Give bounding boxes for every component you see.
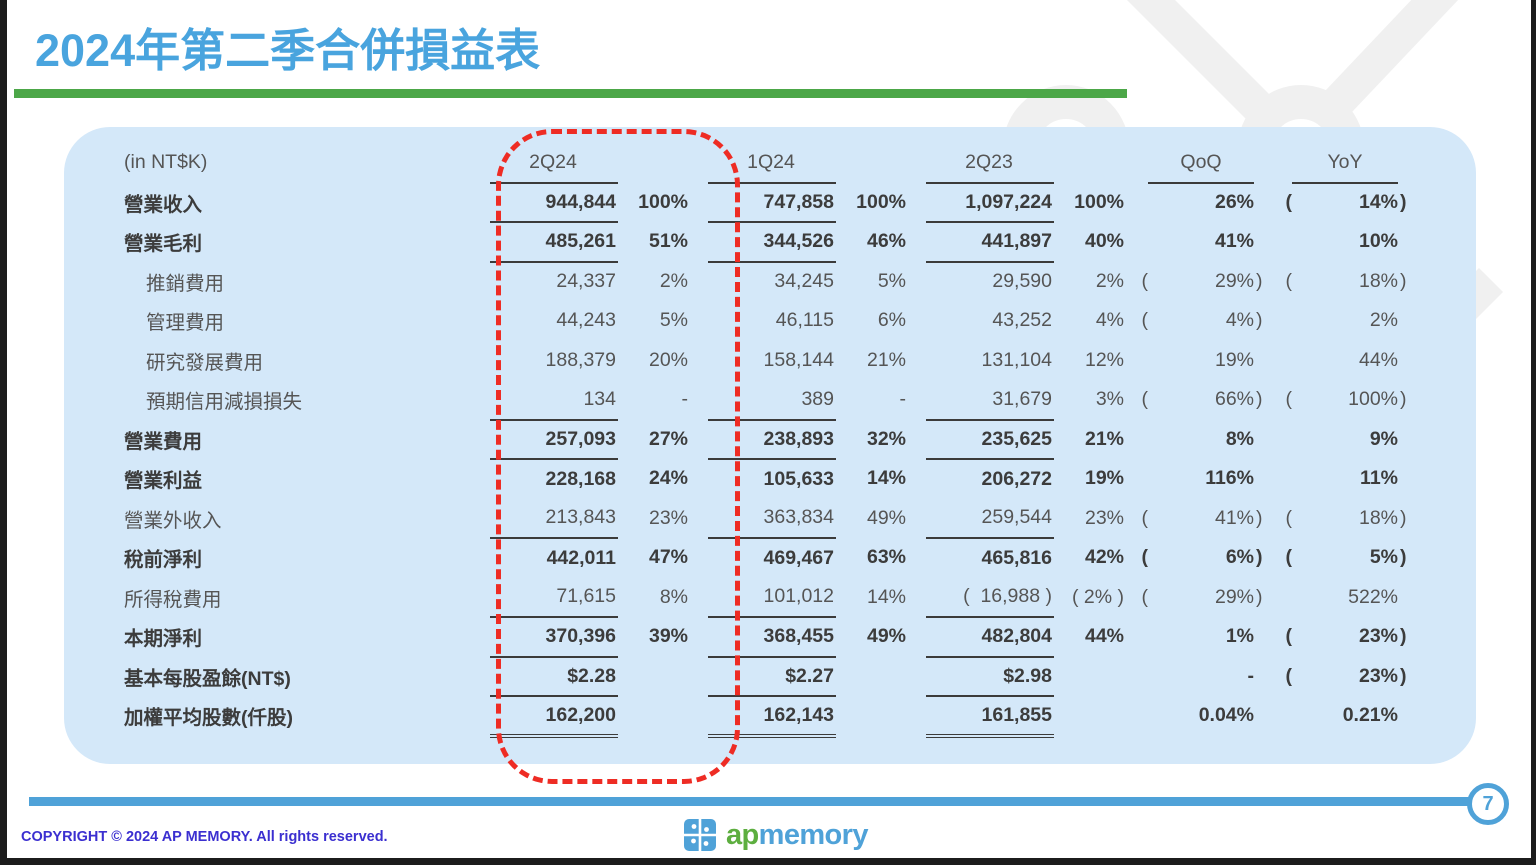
page-number-badge: 7 [1467,783,1509,825]
cell-1q24-value: 389 [708,380,836,420]
cell-2q23-value: 29,590 [926,262,1054,302]
cell-1q24-value: 158,144 [708,341,836,381]
row-label: 營業外收入 [120,499,490,539]
cell-1q24-percent: 5% [836,262,910,302]
cell-yoy-value: 100% [1292,380,1398,420]
cell-yoy-paren-open: ( [1272,262,1292,302]
cell-2q24-value: 24,337 [490,262,618,302]
cell-yoy-paren-close: ) [1398,380,1416,420]
cell-1q24-value: $2.27 [708,657,836,697]
cell-2q24-value: 944,844 [490,183,618,223]
cell-qoq-paren-close [1254,459,1272,499]
cell-yoy-value: 23% [1292,657,1398,697]
table-row: 營業利益228,16824%105,63314%206,27219%116%11… [120,459,1416,499]
row-label: 基本每股盈餘(NT$) [120,657,490,697]
column-header-2q23: 2Q23 [926,143,1054,183]
cell-1q24-percent: 14% [836,459,910,499]
column-header-1q24: 1Q24 [708,143,836,183]
title-underline-bar [14,89,1127,98]
row-label: 稅前淨利 [120,538,490,578]
cell-qoq-value: 8% [1148,420,1254,460]
cell-qoq-paren-close: ) [1254,380,1272,420]
cell-yoy-paren-open: ( [1272,538,1292,578]
cell-2q23-percent: 4% [1054,301,1128,341]
cell-2q24-percent: 20% [618,341,692,381]
cell-2q24-percent: 27% [618,420,692,460]
cell-1q24-percent: 63% [836,538,910,578]
unit-label: (in NT$K) [120,143,490,183]
cell-2q24-value: 188,379 [490,341,618,381]
cell-qoq-paren-open: ( [1128,538,1148,578]
cell-qoq-value: 41% [1148,499,1254,539]
table-header-row: (in NT$K) 2Q24 1Q24 2Q23 QoQ YoY [120,143,1416,183]
cell-2q23-value: 206,272 [926,459,1054,499]
cell-qoq-paren-close [1254,657,1272,697]
cell-1q24-value: 368,455 [708,617,836,657]
cell-yoy-value: 11% [1292,459,1398,499]
cell-yoy-value: 5% [1292,538,1398,578]
cell-1q24-value: 344,526 [708,222,836,262]
table-row: 營業收入944,844100%747,858100%1,097,224100%2… [120,183,1416,223]
cell-1q24-value: 162,143 [708,696,836,736]
cell-yoy-paren-close [1398,696,1416,736]
cell-yoy-paren-close [1398,420,1416,460]
cell-1q24-percent: 6% [836,301,910,341]
cell-2q23-percent: ( 2% ) [1054,578,1128,618]
cell-yoy-value: 23% [1292,617,1398,657]
cell-2q24-value: 162,200 [490,696,618,736]
cell-2q24-value: 44,243 [490,301,618,341]
cell-yoy-paren-open [1272,696,1292,736]
cell-2q24-percent: 2% [618,262,692,302]
cell-2q24-value: 257,093 [490,420,618,460]
cell-2q23-percent: 19% [1054,459,1128,499]
cell-2q24-value: 442,011 [490,538,618,578]
row-label: 預期信用減損損失 [120,380,490,420]
cell-2q24-percent: 24% [618,459,692,499]
cell-qoq-paren-close: ) [1254,499,1272,539]
cell-2q24-percent: - [618,380,692,420]
cell-qoq-paren-close: ) [1254,578,1272,618]
cell-2q24-value: $2.28 [490,657,618,697]
cell-1q24-percent: 14% [836,578,910,618]
row-label: 所得稅費用 [120,578,490,618]
cell-qoq-value: 29% [1148,578,1254,618]
cell-2q23-value: 465,816 [926,538,1054,578]
cell-yoy-value: 14% [1292,183,1398,223]
row-label: 研究發展費用 [120,341,490,381]
cell-yoy-paren-open [1272,578,1292,618]
cell-1q24-percent: 21% [836,341,910,381]
cell-yoy-value: 18% [1292,262,1398,302]
cell-1q24-value: 105,633 [708,459,836,499]
cell-yoy-paren-close [1398,222,1416,262]
table-row: 預期信用減損損失134-389-31,6793%(66%)(100%) [120,380,1416,420]
cell-qoq-paren-close: ) [1254,262,1272,302]
cell-yoy-paren-open: ( [1272,617,1292,657]
cell-qoq-value: 4% [1148,301,1254,341]
cell-yoy-value: 44% [1292,341,1398,381]
table-row: 基本每股盈餘(NT$)$2.28$2.27$2.98-(23%) [120,657,1416,697]
table-body: 營業收入944,844100%747,858100%1,097,224100%2… [120,183,1416,736]
table-row: 稅前淨利442,01147%469,46763%465,81642%(6%)(5… [120,538,1416,578]
cell-yoy-value: 522% [1292,578,1398,618]
cell-2q23-value: 482,804 [926,617,1054,657]
row-label: 營業利益 [120,459,490,499]
cell-qoq-paren-close: ) [1254,538,1272,578]
cell-2q23-value: 235,625 [926,420,1054,460]
cell-1q24-value: 34,245 [708,262,836,302]
cell-qoq-paren-close: ) [1254,301,1272,341]
row-label: 推銷費用 [120,262,490,302]
cell-qoq-value: 29% [1148,262,1254,302]
cell-qoq-paren-open [1128,222,1148,262]
cell-yoy-paren-close: ) [1398,617,1416,657]
cell-1q24-percent [836,696,910,736]
cell-qoq-paren-close [1254,341,1272,381]
cell-1q24-value: 238,893 [708,420,836,460]
table-row: 管理費用44,2435%46,1156%43,2524%(4%)2% [120,301,1416,341]
cell-2q23-value: 161,855 [926,696,1054,736]
cell-2q23-value: ( 16,988 ) [926,578,1054,618]
cell-yoy-value: 0.21% [1292,696,1398,736]
cell-2q24-value: 71,615 [490,578,618,618]
cell-1q24-percent: 49% [836,617,910,657]
cell-2q23-percent: 21% [1054,420,1128,460]
cell-2q23-percent: 3% [1054,380,1128,420]
cell-2q23-value: 1,097,224 [926,183,1054,223]
cell-yoy-paren-close: ) [1398,183,1416,223]
cell-2q24-percent: 47% [618,538,692,578]
cell-qoq-value: 41% [1148,222,1254,262]
column-header-2q24: 2Q24 [490,143,618,183]
cell-yoy-paren-close: ) [1398,538,1416,578]
table-row: 所得稅費用71,6158%101,01214%( 16,988 )( 2% )(… [120,578,1416,618]
cell-2q24-value: 213,843 [490,499,618,539]
cell-1q24-percent: 32% [836,420,910,460]
cell-qoq-paren-open: ( [1128,578,1148,618]
table-row: 加權平均股數(仟股)162,200162,143161,8550.04%0.21… [120,696,1416,736]
cell-1q24-percent: 46% [836,222,910,262]
cell-1q24-value: 363,834 [708,499,836,539]
cell-2q23-value: 43,252 [926,301,1054,341]
cell-yoy-paren-close [1398,459,1416,499]
cell-yoy-value: 10% [1292,222,1398,262]
cell-1q24-percent [836,657,910,697]
table-row: 營業外收入213,84323%363,83449%259,54423%(41%)… [120,499,1416,539]
cell-yoy-paren-open: ( [1272,183,1292,223]
cell-qoq-paren-open [1128,696,1148,736]
cell-qoq-value: 1% [1148,617,1254,657]
cell-qoq-paren-open [1128,420,1148,460]
cell-yoy-paren-open [1272,222,1292,262]
cell-2q24-value: 228,168 [490,459,618,499]
financial-table-container: (in NT$K) 2Q24 1Q24 2Q23 QoQ YoY [64,127,1476,764]
cell-qoq-value: 6% [1148,538,1254,578]
cell-2q24-percent: 51% [618,222,692,262]
row-label: 本期淨利 [120,617,490,657]
cell-2q23-percent: 100% [1054,183,1128,223]
cell-2q24-percent: 5% [618,301,692,341]
table-row: 營業毛利485,26151%344,52646%441,89740%41%10% [120,222,1416,262]
cell-2q23-value: 131,104 [926,341,1054,381]
cell-2q23-percent: 40% [1054,222,1128,262]
cell-2q24-percent: 23% [618,499,692,539]
cell-qoq-value: 26% [1148,183,1254,223]
cell-2q24-value: 134 [490,380,618,420]
column-header-yoy: YoY [1292,143,1398,183]
slide-root: 2024年第二季合併損益表 (in NT$K) 2Q24 1Q24 2Q23 Q… [0,0,1536,865]
cell-qoq-paren-open [1128,657,1148,697]
cell-yoy-paren-close [1398,341,1416,381]
copyright-text: COPYRIGHT © 2024 AP MEMORY. All rights r… [21,829,388,845]
cell-qoq-paren-close [1254,183,1272,223]
cell-qoq-value: 66% [1148,380,1254,420]
cell-yoy-value: 2% [1292,301,1398,341]
cell-1q24-percent: - [836,380,910,420]
row-label: 管理費用 [120,301,490,341]
cell-yoy-paren-open: ( [1272,499,1292,539]
cell-2q23-percent: 12% [1054,341,1128,381]
cell-qoq-paren-open [1128,341,1148,381]
cell-yoy-paren-open [1272,459,1292,499]
cell-2q23-percent: 44% [1054,617,1128,657]
cell-yoy-paren-close: ) [1398,262,1416,302]
cell-1q24-percent: 49% [836,499,910,539]
cell-2q24-value: 485,261 [490,222,618,262]
cell-qoq-paren-close [1254,617,1272,657]
column-header-qoq: QoQ [1148,143,1254,183]
puzzle-logo-icon [683,818,717,852]
cell-qoq-paren-open [1128,459,1148,499]
cell-yoy-paren-close [1398,301,1416,341]
cell-2q23-percent [1054,696,1128,736]
cell-qoq-paren-open: ( [1128,301,1148,341]
cell-yoy-paren-close: ) [1398,499,1416,539]
cell-qoq-value: 0.04% [1148,696,1254,736]
cell-yoy-value: 9% [1292,420,1398,460]
cell-1q24-value: 46,115 [708,301,836,341]
apmemory-logo: apmemory [683,818,868,852]
cell-1q24-value: 747,858 [708,183,836,223]
table-row: 營業費用257,09327%238,89332%235,62521%8%9% [120,420,1416,460]
cell-2q24-percent: 100% [618,183,692,223]
cell-2q23-percent [1054,657,1128,697]
cell-qoq-paren-open [1128,617,1148,657]
cell-1q24-value: 101,012 [708,578,836,618]
cell-qoq-paren-open: ( [1128,499,1148,539]
cell-yoy-paren-close: ) [1398,657,1416,697]
cell-2q23-percent: 23% [1054,499,1128,539]
cell-yoy-paren-open [1272,420,1292,460]
cell-2q24-percent: 8% [618,578,692,618]
cell-2q23-value: 259,544 [926,499,1054,539]
row-label: 營業收入 [120,183,490,223]
cell-2q24-value: 370,396 [490,617,618,657]
table-row: 本期淨利370,39639%368,45549%482,80444%1%(23%… [120,617,1416,657]
cell-2q24-percent: 39% [618,617,692,657]
cell-qoq-paren-close [1254,420,1272,460]
cell-yoy-paren-open: ( [1272,380,1292,420]
table-row: 研究發展費用188,37920%158,14421%131,10412%19%4… [120,341,1416,381]
cell-yoy-paren-open [1272,301,1292,341]
cell-2q23-percent: 2% [1054,262,1128,302]
cell-2q23-percent: 42% [1054,538,1128,578]
cell-qoq-value: 19% [1148,341,1254,381]
logo-text-ap: ap [726,819,759,851]
cell-qoq-paren-open: ( [1128,262,1148,302]
cell-qoq-value: - [1148,657,1254,697]
cell-qoq-paren-open [1128,183,1148,223]
cell-2q24-percent [618,657,692,697]
cell-yoy-paren-open: ( [1272,657,1292,697]
cell-2q23-value: 441,897 [926,222,1054,262]
table-row: 推銷費用24,3372%34,2455%29,5902%(29%)(18%) [120,262,1416,302]
cell-qoq-paren-close [1254,696,1272,736]
row-label: 加權平均股數(仟股) [120,696,490,736]
cell-qoq-value: 116% [1148,459,1254,499]
cell-qoq-paren-open: ( [1128,380,1148,420]
cell-2q23-value: $2.98 [926,657,1054,697]
cell-qoq-paren-close [1254,222,1272,262]
cell-yoy-value: 18% [1292,499,1398,539]
page-title: 2024年第二季合併損益表 [35,14,540,79]
row-label: 營業毛利 [120,222,490,262]
cell-yoy-paren-open [1272,341,1292,381]
cell-2q23-value: 31,679 [926,380,1054,420]
income-statement-table: (in NT$K) 2Q24 1Q24 2Q23 QoQ YoY [120,143,1416,738]
row-label: 營業費用 [120,420,490,460]
cell-yoy-paren-close [1398,578,1416,618]
cell-2q24-percent [618,696,692,736]
cell-1q24-percent: 100% [836,183,910,223]
footer-divider [29,797,1487,806]
cell-1q24-value: 469,467 [708,538,836,578]
logo-text-memory: memory [759,819,868,851]
